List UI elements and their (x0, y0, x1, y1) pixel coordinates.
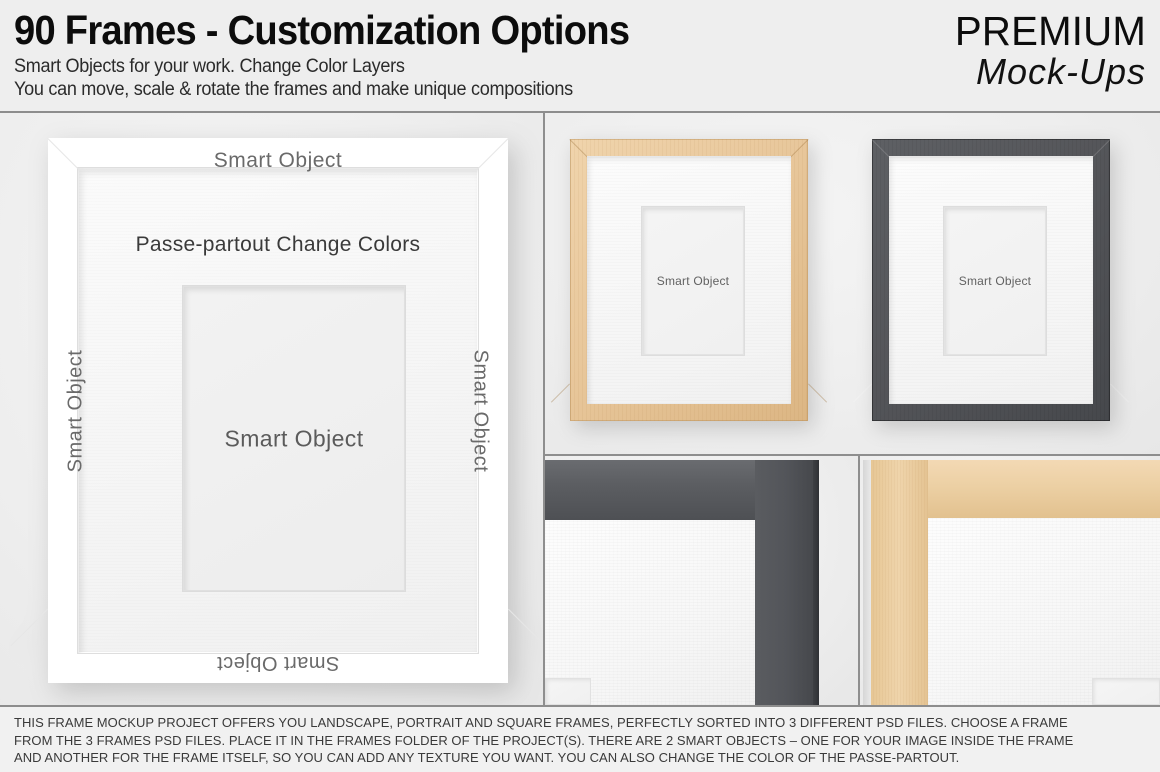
corner-detail-dark-outer-edge (813, 460, 819, 705)
label-smart-object-dark: Smart Object (926, 274, 1064, 288)
premium-badge: PREMIUM Mock-Ups (886, 8, 1146, 92)
frames-stage: Passe-partout Change Colors Smart Object… (0, 113, 1160, 705)
frame-wood-passepartout: Smart Object (587, 156, 791, 404)
corner-detail-wood-outer-edge (863, 460, 871, 705)
label-passepartout-change-colors: Passe-partout Change Colors (79, 233, 477, 257)
frame-dark-passepartout: Smart Object (889, 156, 1093, 404)
label-smart-object-right: Smart Object (469, 321, 492, 501)
corner-detail-wood-passepartout (928, 518, 1160, 705)
frame-wood-small[interactable]: Smart Object (570, 139, 808, 421)
panel-divider-horizontal (545, 454, 1160, 456)
corner-detail-dark-right-moulding (755, 460, 815, 705)
frame-white-image-window[interactable]: Smart Object (183, 286, 405, 591)
premium-label: PREMIUM (891, 8, 1146, 54)
label-smart-object-center: Smart Object (183, 425, 405, 452)
footer-description: THIS FRAME MOCKUP PROJECT OFFERS YOU LAN… (0, 705, 1160, 772)
header-text-block: 90 Frames - Customization Options Smart … (14, 6, 894, 101)
page-title: 90 Frames - Customization Options (14, 6, 832, 54)
frame-dark-small[interactable]: Smart Object (872, 139, 1110, 421)
corner-detail-wood-window (1092, 678, 1160, 705)
header-subtitle-1: Smart Objects for your work. Change Colo… (14, 56, 850, 78)
mockups-label: Mock-Ups (886, 52, 1146, 92)
label-smart-object-left: Smart Object (65, 321, 88, 501)
header-subtitle-2: You can move, scale & rotate the frames … (14, 79, 850, 101)
frame-white-passepartout: Passe-partout Change Colors Smart Object (79, 169, 477, 652)
frame-white-large[interactable]: Passe-partout Change Colors Smart Object… (48, 138, 508, 683)
frame-wood-corner-detail[interactable] (860, 456, 1160, 705)
panel-divider-vertical-right (858, 456, 860, 705)
label-smart-object-wood: Smart Object (624, 274, 762, 288)
header-bar: 90 Frames - Customization Options Smart … (0, 0, 1160, 112)
label-smart-object-top: Smart Object (48, 149, 508, 173)
footer-line-2: FROM THE 3 FRAMES PSD FILES. PLACE IT IN… (14, 732, 1129, 750)
label-smart-object-bottom: Smart Object (48, 651, 508, 674)
frame-dark-corner-detail[interactable] (545, 456, 858, 705)
panel-divider-vertical-main (543, 113, 545, 705)
mockup-preview-page: 90 Frames - Customization Options Smart … (0, 0, 1160, 772)
corner-detail-wood-left-moulding (870, 460, 928, 705)
frame-wood-image-window[interactable]: Smart Object (642, 207, 744, 355)
footer-line-3: AND ANOTHER FOR THE FRAME ITSELF, SO YOU… (14, 749, 1129, 767)
footer-line-1: THIS FRAME MOCKUP PROJECT OFFERS YOU LAN… (14, 714, 1129, 732)
frame-dark-image-window[interactable]: Smart Object (944, 207, 1046, 355)
corner-detail-dark-window (545, 678, 591, 705)
